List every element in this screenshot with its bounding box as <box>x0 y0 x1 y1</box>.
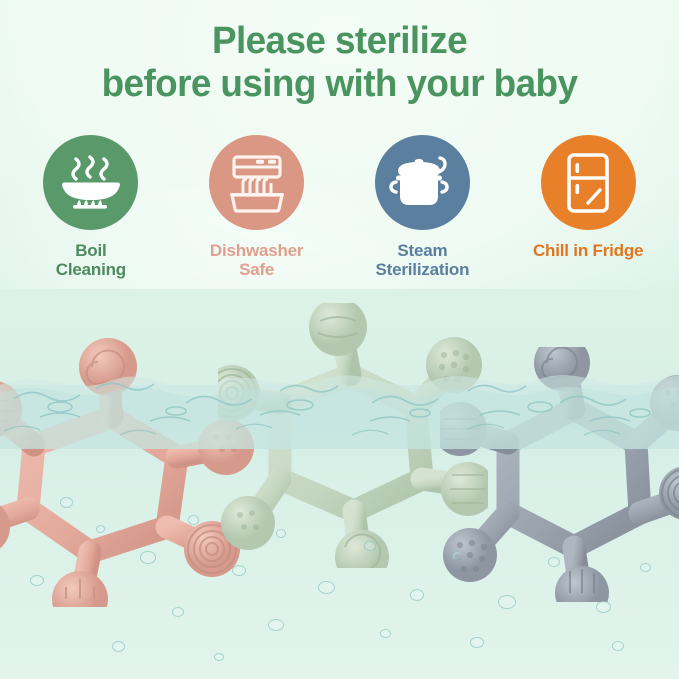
badge-circle-steam-sterilization <box>375 135 470 230</box>
care-badge-label-chill-in-fridge: Chill in Fridge <box>533 241 643 260</box>
page-title: Please sterilize before using with your … <box>10 20 669 105</box>
care-badge-row: Boil Cleaning <box>0 135 679 285</box>
infographic-page: Please sterilize before using with your … <box>0 0 679 679</box>
headline-line-1: Please sterilize <box>212 20 467 62</box>
pot-with-steam-icon <box>59 154 123 212</box>
care-badge-label-boil-cleaning: Boil Cleaning <box>56 241 126 279</box>
care-badge-label-steam-sterilization: Steam Sterilization <box>376 241 470 279</box>
headline-line-2: before using with your baby <box>10 63 669 106</box>
refrigerator-icon <box>566 152 610 214</box>
care-badge-boil-cleaning: Boil Cleaning <box>16 135 166 279</box>
badge-circle-chill-in-fridge <box>541 135 636 230</box>
covered-pot-icon <box>389 154 455 212</box>
badge-circle-boil-cleaning <box>43 135 138 230</box>
care-badge-label-dishwasher-safe: Dishwasher Safe <box>210 241 303 279</box>
care-badge-steam-sterilization: Steam Sterilization <box>347 135 497 279</box>
water-surface <box>0 341 679 449</box>
care-badge-dishwasher-safe: Dishwasher Safe <box>182 135 332 279</box>
product-photo <box>0 289 679 679</box>
badge-circle-dishwasher-safe <box>209 135 304 230</box>
dishwasher-icon <box>226 153 288 213</box>
care-badge-chill-in-fridge: Chill in Fridge <box>513 135 663 260</box>
